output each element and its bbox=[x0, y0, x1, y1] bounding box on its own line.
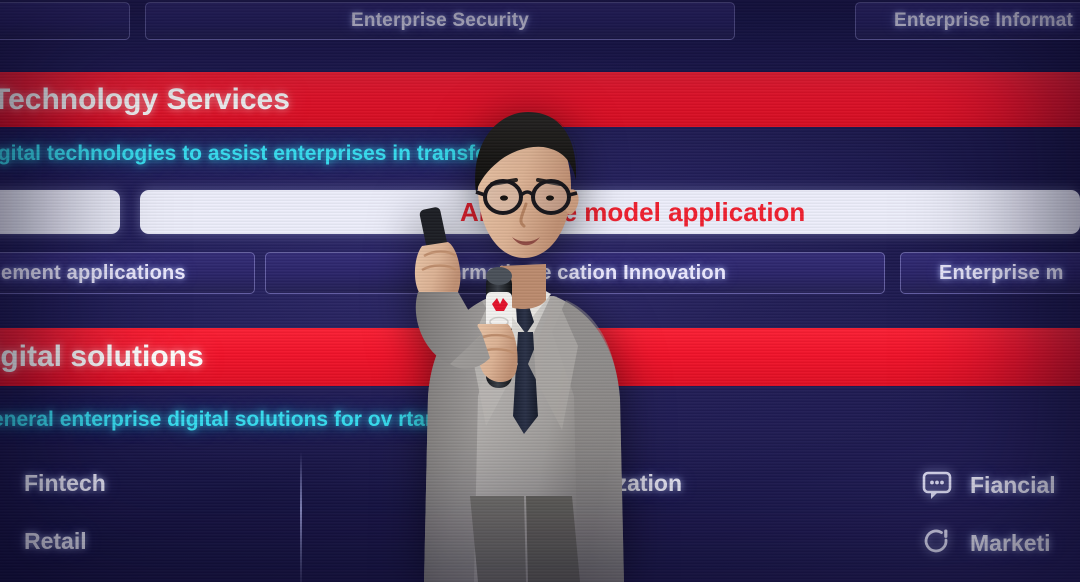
tile-enterprise-security-label: Enterprise Security bbox=[351, 10, 529, 32]
tile-enterprise-security[interactable]: Enterprise Security bbox=[145, 2, 735, 40]
tile-enterprise-management-label: Enterprise m bbox=[939, 262, 1064, 285]
tile-enterprise-management[interactable]: Enterprise m bbox=[900, 252, 1080, 294]
column-divider-left bbox=[300, 452, 302, 582]
speaker-photo bbox=[366, 96, 676, 582]
banner-digital-solutions-title: igital solutions bbox=[0, 340, 204, 374]
industry-retail[interactable]: Retail bbox=[24, 528, 87, 555]
industry-fiancial[interactable]: Fiancial bbox=[920, 468, 1056, 502]
pill-partial-left[interactable] bbox=[0, 190, 120, 234]
screenshot-stage: Enterprise Security Enterprise Informat … bbox=[0, 0, 1080, 582]
tile-enterprise-information-label: Enterprise Informat bbox=[894, 10, 1073, 32]
chat-bubble-icon bbox=[920, 468, 954, 502]
tile-management-applications[interactable]: ement applications bbox=[0, 252, 255, 294]
industry-fiancial-label: Fiancial bbox=[970, 472, 1056, 499]
refresh-circle-icon bbox=[920, 526, 954, 560]
industry-fintech-label: Fintech bbox=[24, 470, 106, 497]
industry-fintech[interactable]: Fintech bbox=[24, 470, 106, 497]
tile-enterprise-information[interactable]: Enterprise Informat bbox=[855, 2, 1080, 40]
tile-management-applications-label: ement applications bbox=[1, 262, 186, 285]
tile-partial-left[interactable] bbox=[0, 2, 130, 40]
industry-marketing[interactable]: Marketi bbox=[920, 526, 1051, 560]
banner-technology-services-title: Technology Services bbox=[0, 83, 290, 117]
industry-marketing-label: Marketi bbox=[970, 530, 1051, 557]
industry-retail-label: Retail bbox=[24, 528, 87, 555]
